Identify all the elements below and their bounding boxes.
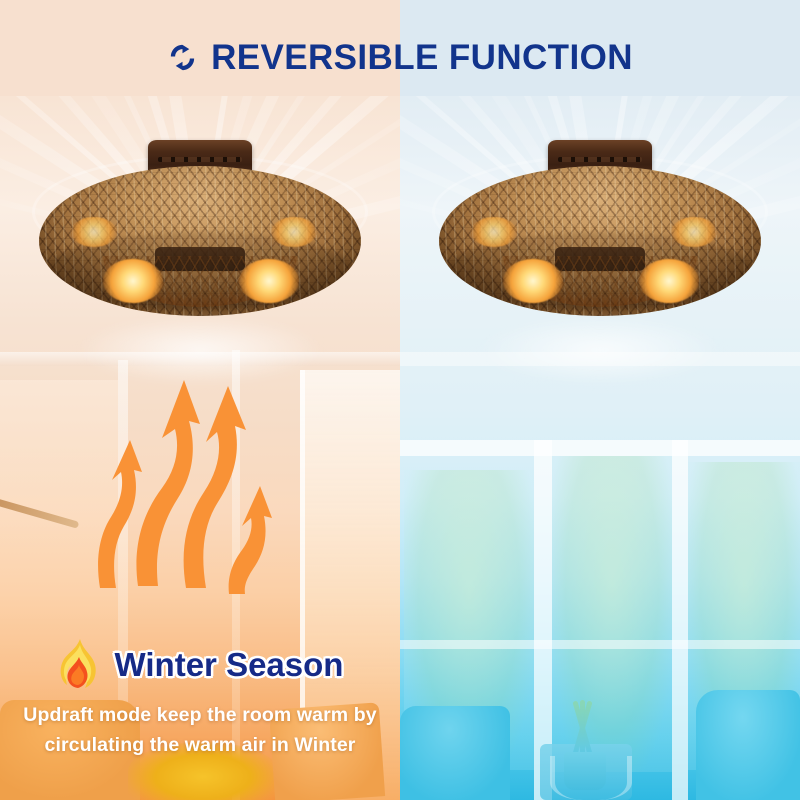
fire-icon [57,638,103,690]
summer-chair [696,690,800,800]
winter-bulb-topright [271,217,317,247]
winter-season-title: Winter Season [115,648,344,681]
summer-window-rail [400,640,800,649]
winter-lamp-shade [39,166,361,316]
summer-plant [550,700,620,800]
winter-season-description: Updraft mode keep the room warm by circu… [0,701,400,760]
winter-panel: Winter Season Updraft mode keep the room… [0,0,400,800]
summer-window-header [400,440,800,456]
summer-bulb-right [639,259,699,303]
winter-ceiling-fan-light [39,140,361,315]
summer-bulb-left [503,259,563,303]
winter-season-block: Winter Season Updraft mode keep the room… [0,636,400,760]
reverse-cycle-icon [167,42,198,73]
winter-bulb-topleft [71,217,117,247]
summer-sofa [400,706,510,800]
winter-bulb-right [239,259,299,303]
summer-ceiling-fan-light [439,140,761,315]
summer-plant-pot [564,752,606,790]
winter-bulb-left [103,259,163,303]
title-row: REVERSIBLE FUNCTION [0,34,800,80]
winter-season-heading: Winter Season [0,636,400,692]
updraft-arrows-icon [96,372,296,622]
page-title: REVERSIBLE FUNCTION [211,40,633,75]
summer-lamp-glow [475,315,725,385]
reversible-function-infographic: Winter Season Updraft mode keep the room… [0,0,800,800]
summer-bulb-topleft [471,217,517,247]
summer-panel: Summer season Downdraft mode make you fe… [400,0,800,800]
summer-lamp-shade [439,166,761,316]
summer-bulb-topright [671,217,717,247]
summer-window-mullion-2 [672,440,688,800]
